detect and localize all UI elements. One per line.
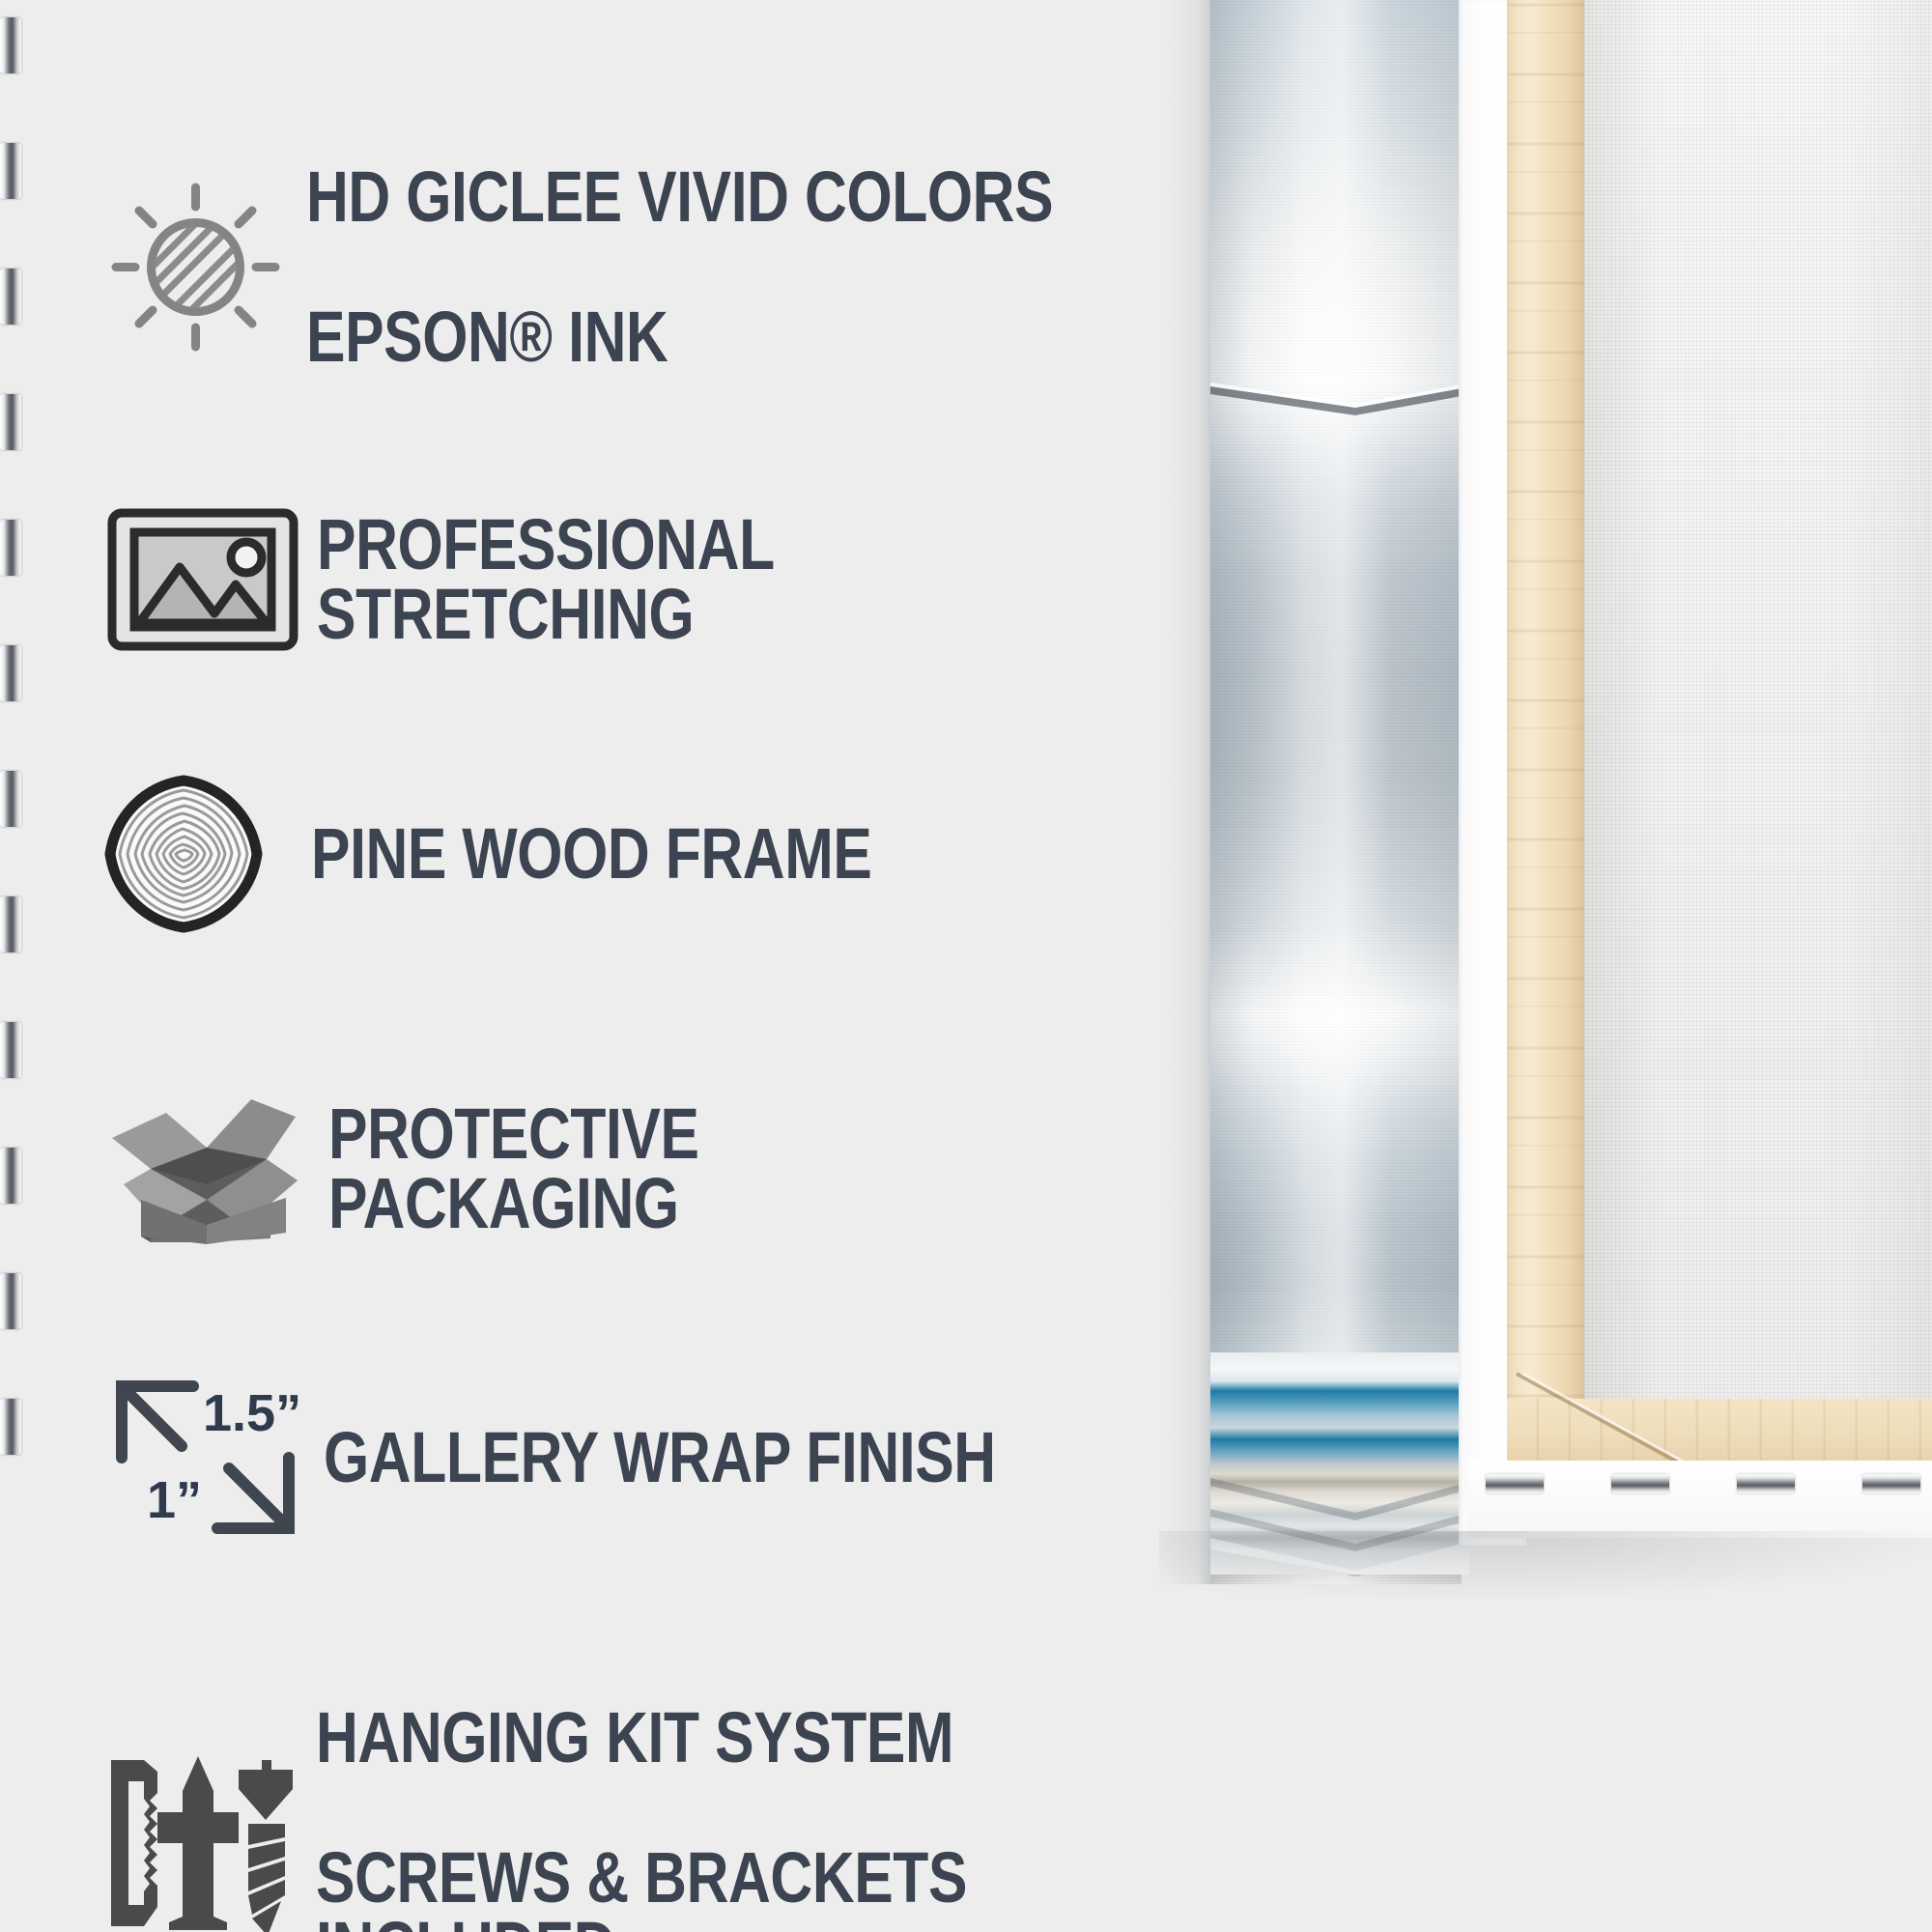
pine-stretcher-bar-vertical	[1507, 0, 1588, 1492]
canvas-corner-fold	[1210, 383, 1462, 417]
feature-label: PROFESSIONAL STRETCHING	[317, 440, 1063, 720]
staple	[0, 1022, 21, 1078]
open-box-icon	[106, 1092, 304, 1246]
hanging-hardware-icon	[101, 1747, 295, 1932]
staple	[1862, 1474, 1920, 1493]
feature-label-line: PROTECTIVE PACKAGING	[328, 1099, 1065, 1239]
feature-item-hd-giclee: HD GICLEE VIVID COLORS EPSON® INK	[106, 92, 1217, 442]
feature-label-line: PROFESSIONAL STRETCHING	[317, 510, 1063, 650]
wood-rings-icon	[106, 777, 261, 931]
feature-label-line: PINE WOOD FRAME	[311, 819, 871, 890]
feature-label-line: EPSON® INK	[306, 302, 1053, 373]
staple	[1611, 1474, 1669, 1493]
staple	[0, 645, 21, 701]
depth-top-label: 1.5”	[203, 1384, 301, 1442]
feature-label-line: HANGING KIT SYSTEM	[316, 1703, 1063, 1774]
canvas-weave-texture	[1210, 0, 1462, 1584]
infographic-canvas: HD GICLEE VIVID COLORS EPSON® INK PROFES…	[0, 0, 1932, 1932]
feature-item-pine-wood-frame: PINE WOOD FRAME	[106, 749, 995, 959]
feature-label-line: HD GICLEE VIVID COLORS	[306, 162, 1053, 233]
canvas-printed-edge	[1210, 0, 1462, 1584]
feature-item-professional-stretching: PROFESSIONAL STRETCHING	[106, 440, 1227, 720]
feature-label-line: GALLERY WRAP FINISH	[324, 1423, 996, 1493]
staple	[0, 896, 21, 952]
gallery-wrap-arrows-icon: 1.5” 1”	[106, 1373, 304, 1542]
staple	[0, 1148, 21, 1204]
feature-list: HD GICLEE VIVID COLORS EPSON® INK PROFES…	[0, 0, 1227, 1932]
wood-grain-texture	[1507, 0, 1588, 1492]
canvas-drop-shadow	[1159, 1531, 1932, 1599]
feature-item-protective-packaging: PROTECTIVE PACKAGING	[106, 1029, 1227, 1309]
staple	[1486, 1474, 1544, 1493]
staple	[0, 143, 21, 199]
framed-picture-icon	[106, 507, 299, 652]
staple	[0, 394, 21, 450]
staple	[0, 17, 21, 73]
feature-label: HD GICLEE VIVID COLORS EPSON® INK	[306, 92, 1053, 442]
canvas-edge-sheen	[1210, 0, 1462, 1584]
staple	[0, 771, 21, 827]
staple	[0, 520, 21, 576]
feature-label-line: SCREWS & BRACKETS INCLUDED	[316, 1843, 1063, 1932]
staple	[1737, 1474, 1795, 1493]
feature-label: PROTECTIVE PACKAGING	[328, 1029, 1065, 1309]
staple	[0, 1399, 21, 1455]
staple	[0, 269, 21, 325]
sun-print-icon	[106, 178, 285, 356]
feature-item-gallery-wrap-finish: 1.5” 1” GALLERY WRAP FINISH	[106, 1352, 1143, 1563]
canvas-back-fabric	[1584, 0, 1932, 1478]
feature-item-hanging-kit: HANGING KIT SYSTEM SCREWS & BRACKETS INC…	[101, 1633, 1227, 1932]
feature-label: PINE WOOD FRAME	[311, 749, 871, 959]
staple	[0, 1273, 21, 1329]
feature-label: GALLERY WRAP FINISH	[324, 1352, 996, 1563]
canvas-back-shading	[1584, 0, 1932, 1478]
feature-label: HANGING KIT SYSTEM SCREWS & BRACKETS INC…	[316, 1633, 1063, 1932]
depth-bottom-label: 1”	[147, 1471, 202, 1529]
bottom-white-wrap	[1468, 1461, 1932, 1538]
